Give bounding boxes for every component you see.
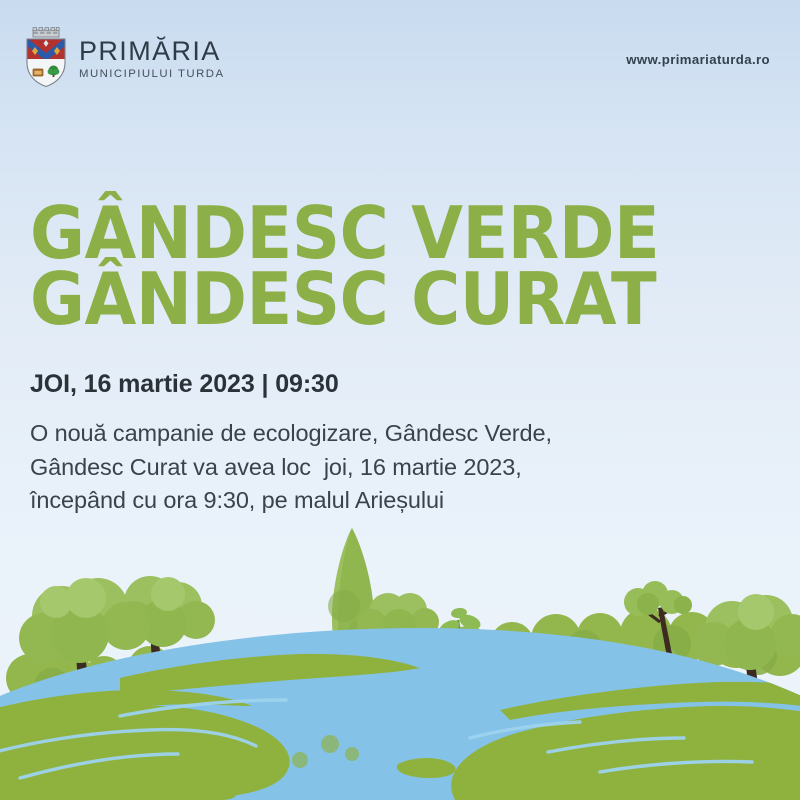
- event-description: O nouă campanie de ecologizare, Gândesc …: [30, 417, 730, 517]
- turda-coat-of-arms-icon: [22, 26, 70, 88]
- brand-primaria-label: PRIMĂRIA: [79, 38, 225, 66]
- description-line-3: începând cu ora 9:30, pe malul Arieșului: [30, 484, 730, 517]
- event-datetime: JOI, 16 martie 2023 | 09:30: [30, 370, 770, 399]
- headline-line-2: GÂNDESC CURAT: [30, 266, 718, 332]
- brand-municipality-label: MUNICIPIULUI TURDA: [79, 68, 225, 80]
- brand-wordmark: PRIMĂRIA MUNICIPIULUI TURDA: [79, 34, 225, 80]
- poster-content: GÂNDESC VERDE GÂNDESC CURAT JOI, 16 mart…: [30, 200, 770, 518]
- website-url[interactable]: www.primariaturda.ro: [626, 26, 770, 67]
- description-line-2: Gândesc Curat va avea loc joi, 16 martie…: [30, 451, 730, 484]
- earth-globe-with-trees-illustration: [0, 510, 800, 800]
- campaign-headline: GÂNDESC VERDE GÂNDESC CURAT: [30, 200, 718, 332]
- poster-header: PRIMĂRIA MUNICIPIULUI TURDA www.primaria…: [0, 0, 800, 110]
- description-line-1: O nouă campanie de ecologizare, Gândesc …: [30, 417, 730, 450]
- poster-canvas: PRIMĂRIA MUNICIPIULUI TURDA www.primaria…: [0, 0, 800, 800]
- municipality-brand: PRIMĂRIA MUNICIPIULUI TURDA: [22, 26, 225, 88]
